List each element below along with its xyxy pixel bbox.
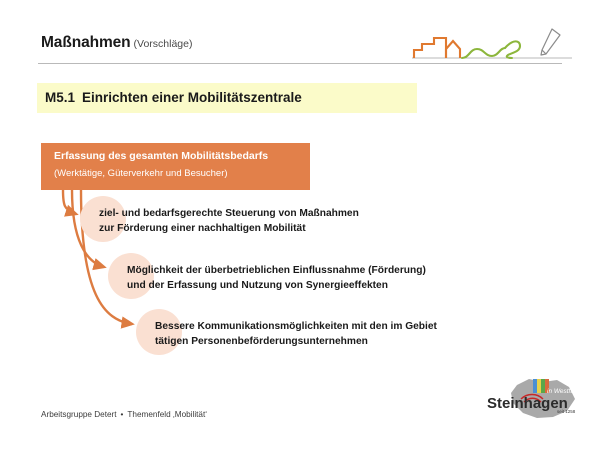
logo-wordmark: Steinhagen bbox=[487, 395, 568, 412]
slide-header: Maßnahmen(Vorschläge) bbox=[0, 0, 600, 70]
steinhagen-logo: Steinhagen in Westfalen seit 1258 bbox=[487, 377, 587, 421]
benefit-line-2: zur Förderung einer nachhaltigen Mobilit… bbox=[99, 221, 359, 236]
logo-tagline-bottom: seit 1258 bbox=[557, 409, 576, 414]
benefit-line-2: und der Erfassung und Nutzung von Synerg… bbox=[127, 278, 426, 293]
main-statement-line-2: (Werktätige, Güterverkehr und Besucher) bbox=[54, 168, 228, 179]
benefit-line-2: tätigen Personenbeförderungsunternehmen bbox=[155, 334, 437, 349]
benefit-item: ziel- und bedarfsgerechte Steuerung von … bbox=[99, 206, 359, 236]
page-title: Maßnahmen(Vorschläge) bbox=[41, 34, 192, 52]
benefit-item: Bessere Kommunikationsmöglichkeiten mit … bbox=[155, 319, 437, 349]
main-statement-line-1: Erfassung des gesamten Mobilitätsbedarfs bbox=[54, 150, 268, 162]
section-code: M5.1 bbox=[45, 90, 82, 105]
footer-separator: • bbox=[117, 410, 128, 419]
benefit-line-1: ziel- und bedarfsgerechte Steuerung von … bbox=[99, 206, 359, 221]
page-title-subtitle: (Vorschläge) bbox=[131, 38, 193, 50]
benefit-line-1: Bessere Kommunikationsmöglichkeiten mit … bbox=[155, 319, 437, 334]
footer-topic: Themenfeld ‚Mobilität‘ bbox=[127, 410, 207, 419]
footer: Arbeitsgruppe Detert•Themenfeld ‚Mobilit… bbox=[41, 410, 207, 419]
section-title-text: Einrichten einer Mobilitätszentrale bbox=[82, 90, 302, 105]
benefit-item: Möglichkeit der überbetrieblichen Einflu… bbox=[127, 263, 426, 293]
logo-tagline-top: in Westfalen bbox=[547, 388, 583, 395]
arrow-to-bullet-1 bbox=[63, 190, 76, 214]
footer-group: Arbeitsgruppe Detert bbox=[41, 410, 117, 419]
skyline-landscape-pencil-graphic bbox=[412, 27, 572, 65]
benefit-line-1: Möglichkeit der überbetrieblichen Einflu… bbox=[127, 263, 426, 278]
slide: Maßnahmen(Vorschläge) M5.1Einr bbox=[0, 0, 600, 450]
section-title: M5.1Einrichten einer Mobilitätszentrale bbox=[45, 90, 302, 105]
page-title-main: Maßnahmen bbox=[41, 34, 131, 51]
